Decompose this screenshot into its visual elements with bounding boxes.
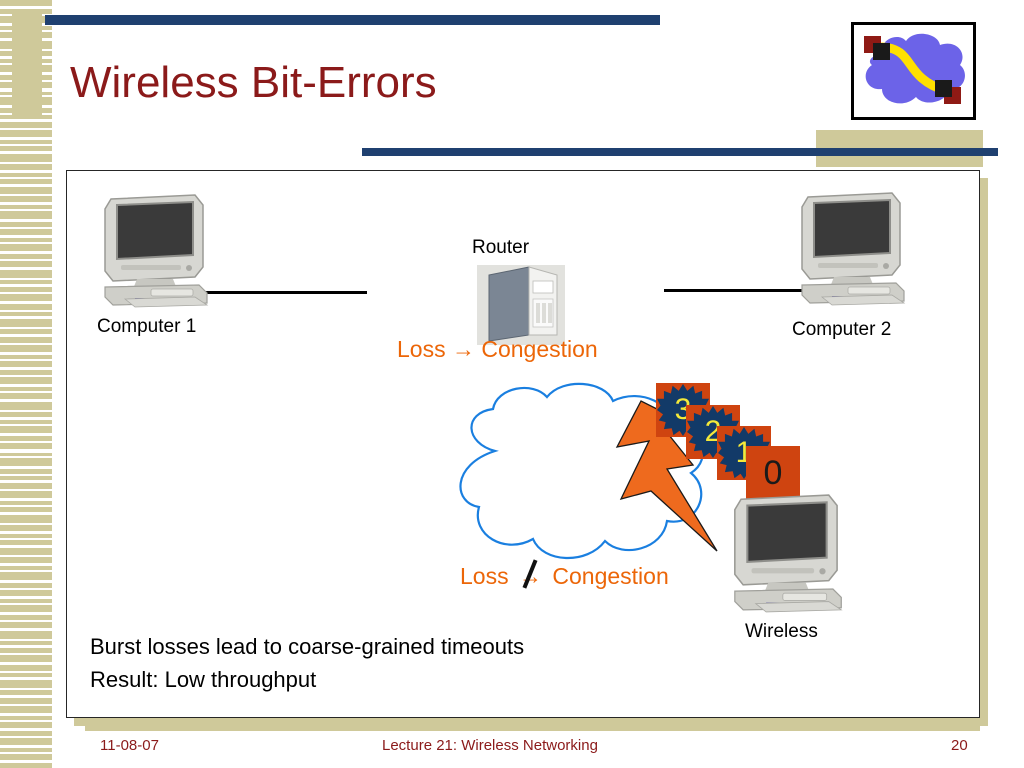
blocked-arrow-icon: →	[519, 563, 542, 590]
decorative-stripe	[0, 458, 52, 466]
decorative-stripe	[0, 287, 52, 292]
decorative-stripe	[0, 319, 52, 327]
decorative-stripe	[0, 583, 52, 588]
link-line-right	[664, 289, 804, 292]
cloud-caption: Loss → Congestion	[397, 336, 598, 363]
decorative-stripe	[0, 187, 52, 194]
decorative-stripe	[0, 387, 52, 391]
decorative-stripe	[0, 690, 52, 695]
decorative-stripe	[0, 337, 52, 343]
left-decorative-strip	[0, 0, 52, 768]
decorative-stripe	[0, 130, 52, 137]
decorative-stripe	[0, 355, 52, 359]
decorative-stripe	[0, 655, 52, 662]
decorative-stripe	[0, 507, 52, 512]
computer1-icon	[99, 193, 211, 313]
decorative-stripe	[0, 294, 52, 301]
decorative-stripe	[0, 469, 52, 474]
decorative-stripe	[0, 146, 52, 151]
footer-strip	[85, 722, 980, 731]
decorative-stripe	[0, 665, 52, 671]
page-title: Wireless Bit-Errors	[70, 58, 437, 108]
network-cloud-logo	[851, 22, 976, 120]
decorative-stripe	[0, 476, 52, 480]
decorative-stripe	[0, 229, 52, 235]
body-text: Burst losses lead to coarse-grained time…	[90, 630, 524, 696]
footer-date: 11-08-07	[100, 737, 159, 754]
body-line-1: Burst losses lead to coarse-grained time…	[90, 630, 524, 663]
decorative-stripe	[0, 312, 52, 316]
decorative-stripe	[0, 196, 52, 202]
decorative-stripe	[0, 501, 52, 505]
decorative-stripe	[0, 122, 52, 128]
decorative-stripe	[0, 75, 52, 80]
decorative-stripe	[0, 738, 52, 745]
decorative-stripe	[0, 205, 52, 209]
decorative-stripe	[0, 483, 52, 489]
logo-node-dark-left	[873, 43, 890, 60]
decorative-stripe	[0, 377, 52, 384]
decorative-stripe	[0, 254, 52, 259]
decorative-stripe	[0, 557, 52, 563]
decorative-stripe	[0, 706, 52, 713]
wireless-computer-icon	[728, 493, 846, 618]
decorative-stripe	[0, 648, 52, 653]
decorative-stripe	[0, 673, 52, 677]
decorative-stripe	[0, 261, 52, 267]
decorative-stripe	[0, 763, 52, 768]
decorative-stripe	[0, 41, 52, 49]
top-accent-bar	[45, 15, 660, 25]
decorative-stripe	[0, 304, 52, 310]
decorative-stripe	[0, 534, 52, 538]
decorative-stripe	[0, 370, 52, 375]
decorative-stripe	[0, 65, 52, 72]
decorative-stripe	[0, 716, 52, 720]
decorative-stripe	[0, 9, 52, 14]
decorative-stripe	[0, 164, 52, 170]
decorative-stripe	[0, 361, 52, 367]
decorative-stripe	[0, 270, 52, 278]
decorative-stripe	[0, 238, 52, 242]
decorative-stripe	[0, 590, 52, 596]
decorative-stripe	[0, 244, 52, 251]
decorative-stripe	[0, 140, 52, 144]
decorative-stripe	[0, 599, 52, 603]
packet-square-0: 0	[746, 446, 800, 500]
computer1-label: Computer 1	[97, 316, 196, 338]
decorative-stripe	[0, 605, 52, 612]
decorative-stripe	[0, 641, 52, 645]
decorative-stripe	[0, 211, 52, 219]
decorative-stripe	[0, 622, 52, 628]
wireless-label: Wireless	[745, 621, 818, 643]
decorative-stripe	[0, 32, 52, 38]
wireless-caption-loss: Loss	[460, 563, 509, 589]
decorative-stripe	[0, 92, 52, 95]
decorative-stripe	[0, 82, 52, 88]
logo-node-dark-right	[935, 80, 952, 97]
body-line-2: Result: Low throughput	[90, 663, 524, 696]
decorative-stripe	[0, 59, 52, 63]
computer2-label: Computer 2	[792, 319, 891, 341]
decorative-stripe	[0, 179, 52, 184]
decorative-stripe	[0, 731, 52, 736]
wireless-caption: Loss → Congestion	[460, 563, 669, 590]
link-line-left	[202, 291, 367, 294]
decorative-stripe	[0, 345, 52, 352]
decorative-stripe	[0, 222, 52, 227]
decorative-stripe	[0, 412, 52, 417]
wireless-caption-congestion: Congestion	[552, 563, 668, 589]
decorative-stripe	[0, 443, 52, 449]
router-label: Router	[472, 237, 529, 259]
decorative-stripe	[0, 540, 52, 545]
decorative-stripe	[0, 453, 52, 456]
decorative-stripe	[0, 615, 52, 620]
decorative-stripe	[0, 631, 52, 639]
decorative-stripe	[0, 572, 52, 580]
decorative-stripe	[0, 566, 52, 570]
decorative-stripe	[0, 154, 52, 162]
decorative-stripe	[0, 722, 52, 728]
footer-page-number: 20	[951, 737, 968, 754]
computer2-icon	[796, 191, 908, 311]
packet-value-0: 0	[746, 446, 800, 500]
decorative-stripe	[0, 51, 52, 56]
decorative-stripe	[0, 173, 52, 177]
decorative-stripe	[0, 108, 52, 113]
decorative-stripe	[0, 426, 52, 433]
decorative-stripe	[0, 548, 52, 555]
decorative-stripe	[0, 97, 52, 105]
footer-title: Lecture 21: Wireless Networking	[382, 737, 598, 754]
decorative-stripe	[0, 491, 52, 498]
decorative-stripe	[0, 525, 52, 531]
decorative-stripe	[0, 420, 52, 424]
decorative-stripe	[0, 754, 52, 760]
decorative-stripe	[0, 515, 52, 523]
decorative-stripe	[0, 680, 52, 688]
logo-graphic	[854, 25, 973, 117]
decorative-stripe	[0, 329, 52, 334]
decorative-stripe	[0, 26, 52, 30]
decorative-stripe	[0, 280, 52, 284]
decorative-stripe	[0, 698, 52, 704]
decorative-stripe	[0, 748, 52, 752]
decorative-stripe	[0, 0, 52, 6]
decorative-stripe	[0, 436, 52, 441]
decorative-stripe	[0, 393, 52, 399]
decorative-stripe	[0, 115, 52, 119]
header-accent-bar	[362, 148, 998, 156]
decorative-stripe	[0, 402, 52, 410]
